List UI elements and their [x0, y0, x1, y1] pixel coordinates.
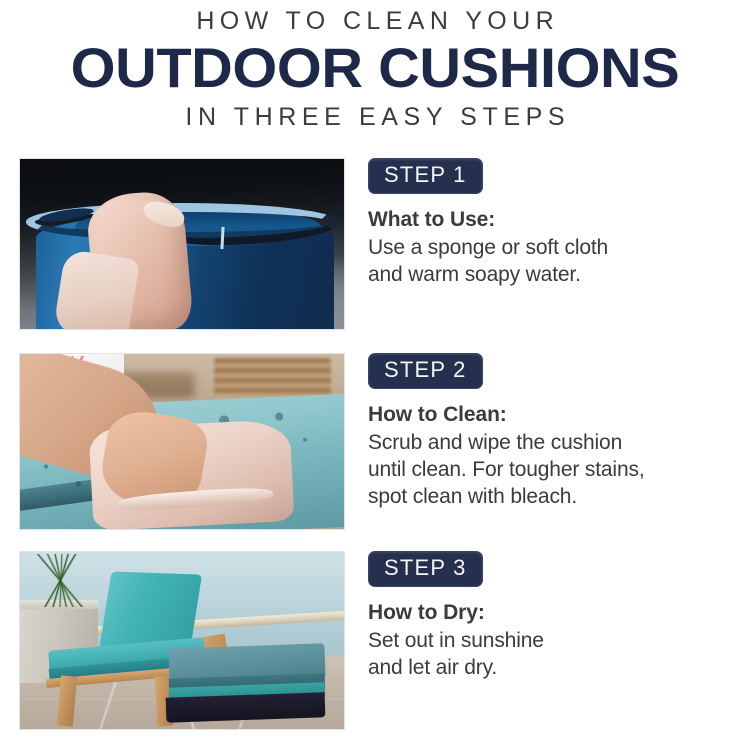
step-3-badge: STEP 3 [368, 551, 483, 587]
step-2-heading: How to Clean: [368, 402, 738, 428]
blurred-wooden-crate [214, 358, 331, 397]
step-2-photo [19, 353, 345, 530]
page-title: OUTDOOR CUSHIONS [0, 36, 750, 100]
agave-plant [30, 554, 95, 607]
step-3-photo [19, 551, 345, 730]
step-row-2: STEP 2 How to Clean: Scrub and wipe the … [0, 353, 750, 530]
infographic-header: HOW TO CLEAN YOUR OUTDOOR CUSHIONS IN TH… [0, 0, 750, 150]
step-2-badge: STEP 2 [368, 353, 483, 389]
infographic-root: HOW TO CLEAN YOUR OUTDOOR CUSHIONS IN TH… [0, 0, 750, 750]
header-eyebrow: HOW TO CLEAN YOUR [0, 7, 750, 35]
step-row-3: STEP 3 How to Dry: Set out in sunshine a… [0, 551, 750, 730]
step-1-body: Use a sponge or soft cloth and warm soap… [368, 234, 738, 288]
step-3-heading: How to Dry: [368, 600, 738, 626]
step-1-heading: What to Use: [368, 207, 738, 233]
header-subtitle: IN THREE EASY STEPS [0, 103, 750, 131]
step-row-1: STEP 1 What to Use: Use a sponge or soft… [0, 158, 750, 330]
cleaning-cloth [53, 249, 139, 330]
step-2-text-column: STEP 2 How to Clean: Scrub and wipe the … [368, 353, 738, 530]
step-1-text-column: STEP 1 What to Use: Use a sponge or soft… [368, 158, 738, 330]
step-1-photo [19, 158, 345, 330]
step-3-text-column: STEP 3 How to Dry: Set out in sunshine a… [368, 551, 738, 730]
step-1-badge: STEP 1 [368, 158, 483, 194]
step-3-body: Set out in sunshine and let air dry. [368, 627, 738, 681]
step-2-body: Scrub and wipe the cushion until clean. … [368, 429, 738, 510]
